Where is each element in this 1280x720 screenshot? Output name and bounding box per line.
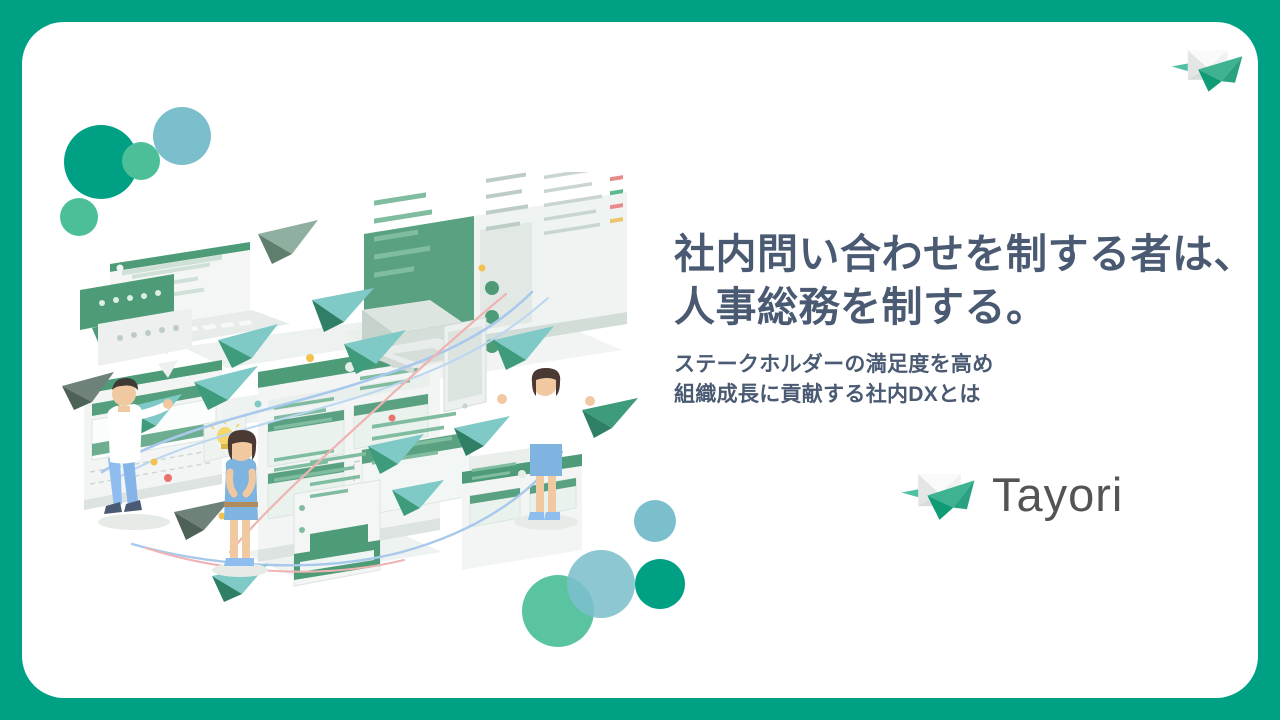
isometric-internal-inquiry-dx-illustration: + xyxy=(62,172,682,602)
brand-lockup: Tayori xyxy=(900,465,1123,523)
page-title: 社内問い合わせを制する者は、 人事総務を制する。 xyxy=(674,228,1258,335)
circle-blue-top-left xyxy=(153,107,211,165)
slide-card: + xyxy=(22,22,1258,698)
paper-plane-5 xyxy=(258,220,318,264)
tayori-corner-logo-icon xyxy=(1170,40,1244,96)
paper-plane-8 xyxy=(174,500,230,540)
text-block: 社内問い合わせを制する者は、 人事総務を制する。 ステークホルダーの満足度を高め… xyxy=(674,228,1258,410)
tayori-envelope-plane-logo-icon xyxy=(900,465,976,523)
brand-wordmark: Tayori xyxy=(992,471,1123,518)
ui-panel-bottom-right xyxy=(462,454,582,570)
page-subtitle: ステークホルダーの満足度を高め 組織成長に貢献する社内DXとは xyxy=(674,350,1258,411)
slide-root: + xyxy=(0,0,1280,720)
